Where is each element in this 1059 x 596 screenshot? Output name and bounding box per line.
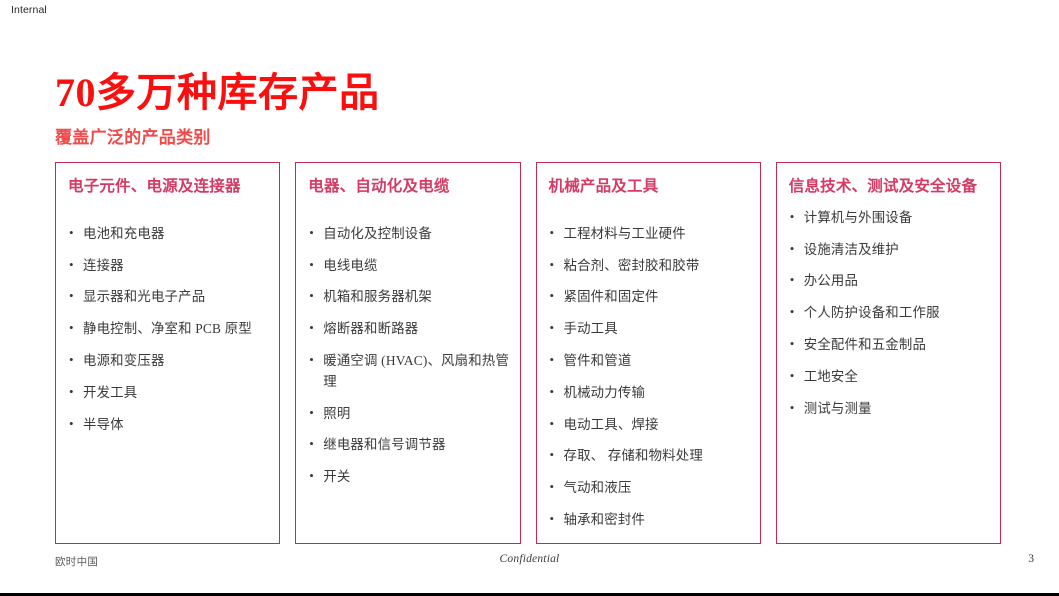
- category-item-label: 安全配件和五金制品: [804, 337, 926, 352]
- category-item-label: 机械动力传输: [564, 385, 646, 400]
- category-item-list: •电池和充电器•连接器•显示器和光电子产品•静电控制、净室和 PCB 原型•电源…: [68, 224, 269, 446]
- bullet-icon: •: [550, 445, 555, 465]
- category-item-label: 粘合剂、密封胶和胶带: [564, 258, 700, 273]
- category-item-label: 显示器和光电子产品: [83, 289, 205, 304]
- bullet-icon: •: [550, 318, 555, 338]
- category-item-list: •自动化及控制设备•电线电缆•机箱和服务器机架•熔断器和断路器•暖通空调 (HV…: [308, 224, 509, 499]
- bullet-icon: •: [550, 286, 555, 306]
- bullet-icon: •: [550, 509, 555, 529]
- category-item: •个人防护设备和工作服: [789, 303, 990, 324]
- category-item: •测试与测量: [789, 399, 990, 420]
- category-item-label: 暖通空调 (HVAC)、风扇和热管理: [323, 353, 509, 389]
- bullet-icon: •: [550, 350, 555, 370]
- bullet-icon: •: [69, 223, 74, 243]
- bullet-icon: •: [69, 414, 74, 434]
- category-item-list: •计算机与外围设备•设施清洁及维护•办公用品•个人防护设备和工作服•安全配件和五…: [789, 208, 990, 430]
- category-item: •手动工具: [549, 319, 750, 340]
- category-item-label: 电池和充电器: [83, 226, 165, 241]
- category-item-label: 半导体: [83, 417, 124, 432]
- bullet-icon: •: [790, 270, 795, 290]
- page-title: 70多万种库存产品: [55, 72, 955, 114]
- page-subtitle: 覆盖广泛的产品类别: [55, 123, 955, 148]
- bullet-icon: •: [790, 207, 795, 227]
- category-item: •工程材料与工业硬件: [549, 224, 750, 245]
- category-item-label: 照明: [323, 406, 350, 421]
- category-item-label: 自动化及控制设备: [323, 226, 432, 241]
- bullet-icon: •: [550, 255, 555, 275]
- footer-confidentiality: Confidential: [0, 553, 1059, 565]
- category-item-label: 工地安全: [804, 369, 858, 384]
- bullet-icon: •: [69, 382, 74, 402]
- category-item: •半导体: [68, 415, 269, 436]
- category-item: •存取、 存储和物料处理: [549, 446, 750, 467]
- category-item-label: 熔断器和断路器: [323, 321, 418, 336]
- bullet-icon: •: [309, 318, 314, 338]
- category-item: •开发工具: [68, 383, 269, 404]
- bullet-icon: •: [790, 302, 795, 322]
- category-item: •办公用品: [789, 271, 990, 292]
- bullet-icon: •: [550, 414, 555, 434]
- category-item: •连接器: [68, 256, 269, 277]
- category-item: •机箱和服务器机架: [308, 287, 509, 308]
- category-item-label: 继电器和信号调节器: [323, 437, 445, 452]
- category-card-electrical: 电器、自动化及电缆 •自动化及控制设备•电线电缆•机箱和服务器机架•熔断器和断路…: [295, 162, 520, 544]
- bullet-icon: •: [790, 334, 795, 354]
- bullet-icon: •: [790, 398, 795, 418]
- category-item-label: 手动工具: [564, 321, 618, 336]
- category-item-label: 机箱和服务器机架: [323, 289, 432, 304]
- bullet-icon: •: [69, 255, 74, 275]
- category-item: •电动工具、焊接: [549, 415, 750, 436]
- category-item-label: 轴承和密封件: [564, 512, 646, 527]
- bullet-icon: •: [69, 286, 74, 306]
- category-item: •气动和液压: [549, 478, 750, 499]
- bullet-icon: •: [69, 350, 74, 370]
- category-item-label: 静电控制、净室和 PCB 原型: [83, 321, 252, 336]
- category-item-label: 办公用品: [804, 273, 858, 288]
- title-block: 70多万种库存产品 覆盖广泛的产品类别: [55, 72, 955, 148]
- classification-banner: Internal: [11, 4, 47, 16]
- category-item: •设施清洁及维护: [789, 240, 990, 261]
- category-item-label: 开发工具: [83, 385, 137, 400]
- category-item-label: 连接器: [83, 258, 124, 273]
- category-item: •电源和变压器: [68, 351, 269, 372]
- category-item: •暖通空调 (HVAC)、风扇和热管理: [308, 351, 509, 393]
- category-item: •紧固件和固定件: [549, 287, 750, 308]
- category-item: •显示器和光电子产品: [68, 287, 269, 308]
- category-item-label: 个人防护设备和工作服: [804, 305, 940, 320]
- category-item: •熔断器和断路器: [308, 319, 509, 340]
- bullet-icon: •: [309, 434, 314, 454]
- bullet-icon: •: [309, 466, 314, 486]
- category-item-label: 电动工具、焊接: [564, 417, 659, 432]
- bullet-icon: •: [790, 239, 795, 259]
- category-item: •工地安全: [789, 367, 990, 388]
- bullet-icon: •: [550, 382, 555, 402]
- bullet-icon: •: [309, 223, 314, 243]
- category-item: •安全配件和五金制品: [789, 335, 990, 356]
- category-item: •静电控制、净室和 PCB 原型: [68, 319, 269, 340]
- category-item-label: 开关: [323, 469, 350, 484]
- category-item-label: 测试与测量: [804, 401, 872, 416]
- category-card-mechanical: 机械产品及工具 •工程材料与工业硬件•粘合剂、密封胶和胶带•紧固件和固定件•手动…: [536, 162, 761, 544]
- slide-footer: 欧时中国 Confidential 3: [0, 551, 1059, 573]
- bullet-icon: •: [309, 255, 314, 275]
- category-item-label: 电源和变压器: [83, 353, 165, 368]
- category-item: •继电器和信号调节器: [308, 435, 509, 456]
- category-item-label: 电线电缆: [323, 258, 377, 273]
- category-card-title: 电器、自动化及电缆: [308, 177, 509, 198]
- category-item-label: 气动和液压: [564, 480, 632, 495]
- category-card-electronic: 电子元件、电源及连接器 •电池和充电器•连接器•显示器和光电子产品•静电控制、净…: [55, 162, 280, 544]
- bullet-icon: •: [550, 477, 555, 497]
- bullet-icon: •: [309, 350, 314, 370]
- category-item-label: 存取、 存储和物料处理: [564, 448, 703, 463]
- category-item-label: 工程材料与工业硬件: [564, 226, 686, 241]
- category-item: •管件和管道: [549, 351, 750, 372]
- category-card-title: 信息技术、测试及安全设备: [789, 177, 990, 198]
- category-item-label: 设施清洁及维护: [804, 242, 899, 257]
- category-card-title: 电子元件、电源及连接器: [68, 177, 269, 198]
- category-item-list: •工程材料与工业硬件•粘合剂、密封胶和胶带•紧固件和固定件•手动工具•管件和管道…: [549, 224, 750, 542]
- bullet-icon: •: [309, 403, 314, 423]
- bullet-icon: •: [790, 366, 795, 386]
- category-item: •电线电缆: [308, 256, 509, 277]
- bullet-icon: •: [309, 286, 314, 306]
- category-item: •自动化及控制设备: [308, 224, 509, 245]
- bullet-icon: •: [550, 223, 555, 243]
- category-item: •机械动力传输: [549, 383, 750, 404]
- category-card-grid: 电子元件、电源及连接器 •电池和充电器•连接器•显示器和光电子产品•静电控制、净…: [55, 162, 1001, 544]
- category-item: •计算机与外围设备: [789, 208, 990, 229]
- category-item: •轴承和密封件: [549, 510, 750, 531]
- category-item: •粘合剂、密封胶和胶带: [549, 256, 750, 277]
- bullet-icon: •: [69, 318, 74, 338]
- category-card-it-safety: 信息技术、测试及安全设备 •计算机与外围设备•设施清洁及维护•办公用品•个人防护…: [776, 162, 1001, 544]
- category-item-label: 紧固件和固定件: [564, 289, 659, 304]
- category-item-label: 计算机与外围设备: [804, 210, 913, 225]
- category-item: •开关: [308, 467, 509, 488]
- category-item: •照明: [308, 404, 509, 425]
- footer-page-number: 3: [1028, 553, 1034, 565]
- category-card-title: 机械产品及工具: [549, 177, 750, 198]
- category-item: •电池和充电器: [68, 224, 269, 245]
- category-item-label: 管件和管道: [564, 353, 632, 368]
